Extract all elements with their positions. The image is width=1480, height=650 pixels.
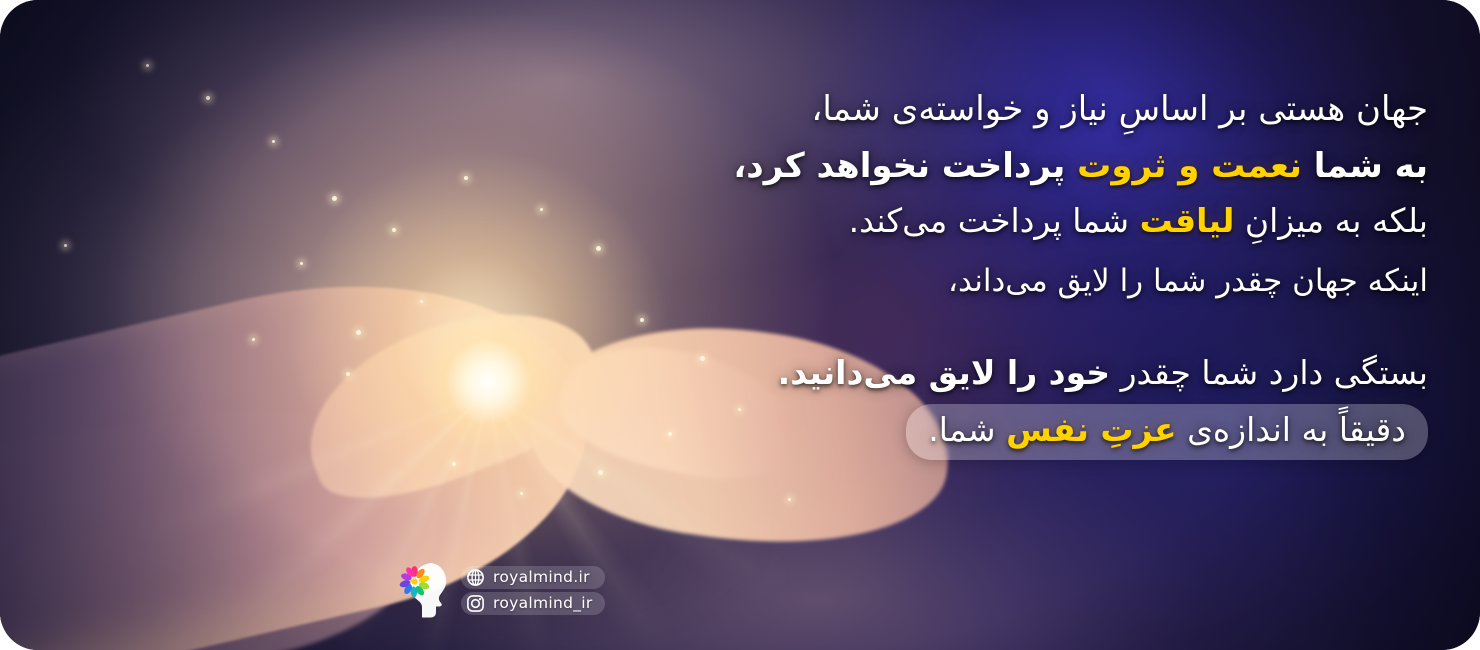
quote-line-6-seg-3: شما. bbox=[928, 410, 1006, 449]
handle-instagram-text: royalmind_ir bbox=[493, 594, 593, 612]
quote-text-block: جهان هستی بر اساسِ نیاز و خواسته‌ی شما، … bbox=[608, 92, 1428, 460]
quote-line-4: اینکه جهان چقدر شما را لایق می‌داند، bbox=[608, 265, 1428, 298]
royalmind-head-brain-logo bbox=[398, 560, 450, 620]
quote-line-6: دقیقاً به اندازه‌ی عزتِ نفس شما. bbox=[608, 404, 1428, 460]
quote-line-2-seg-1: به شما bbox=[1302, 146, 1428, 186]
quote-line-4-seg-1: اینکه جهان چقدر شما را لایق می‌داند، bbox=[948, 263, 1428, 299]
quote-line-2-seg-3: پرداخت نخواهد کرد، bbox=[733, 146, 1077, 186]
quote-line-1-seg-1: جهان هستی بر اساسِ نیاز و خواسته‌ی شما، bbox=[811, 89, 1428, 129]
quote-highlight-chip: دقیقاً به اندازه‌ی عزتِ نفس شما. bbox=[906, 404, 1428, 460]
watermark: royalmind.ir royalmind_ir bbox=[398, 560, 605, 620]
left-forearm bbox=[0, 378, 456, 650]
quote-line-1: جهان هستی بر اساسِ نیاز و خواسته‌ی شما، bbox=[608, 92, 1428, 128]
handle-instagram[interactable]: royalmind_ir bbox=[461, 592, 605, 615]
quote-line-2: به شما نعمت و ثروت پرداخت نخواهد کرد، bbox=[608, 149, 1428, 185]
quote-line-2-highlight: نعمت و ثروت bbox=[1077, 146, 1302, 186]
instagram-icon bbox=[466, 594, 485, 613]
quote-line-5: بستگی دارد شما چقدر خود را لایق می‌دانید… bbox=[608, 356, 1428, 391]
left-hand-fingers bbox=[283, 277, 617, 525]
quote-line-6-seg-1: دقیقاً به اندازه‌ی bbox=[1177, 410, 1406, 449]
quote-line-5-seg-1: بستگی دارد شما چقدر bbox=[1110, 353, 1428, 392]
globe-icon bbox=[466, 568, 485, 587]
handle-website[interactable]: royalmind.ir bbox=[461, 566, 605, 589]
social-handles: royalmind.ir royalmind_ir bbox=[461, 566, 605, 615]
quote-line-3-highlight: لیاقت bbox=[1140, 201, 1235, 240]
quote-line-3-seg-3: شما پرداخت می‌کند. bbox=[849, 201, 1140, 240]
quote-card: جهان هستی بر اساسِ نیاز و خواسته‌ی شما، … bbox=[0, 0, 1480, 650]
handle-website-text: royalmind.ir bbox=[493, 568, 590, 586]
quote-line-3-seg-1: بلکه به میزانِ bbox=[1234, 201, 1428, 240]
quote-line-5-seg-2: خود را لایق می‌دانید. bbox=[778, 353, 1110, 392]
quote-line-6-highlight: عزتِ نفس bbox=[1006, 410, 1177, 449]
quote-line-3: بلکه به میزانِ لیاقت شما پرداخت می‌کند. bbox=[608, 204, 1428, 239]
quote-chip-inner: دقیقاً به اندازه‌ی عزتِ نفس شما. bbox=[906, 404, 1428, 460]
